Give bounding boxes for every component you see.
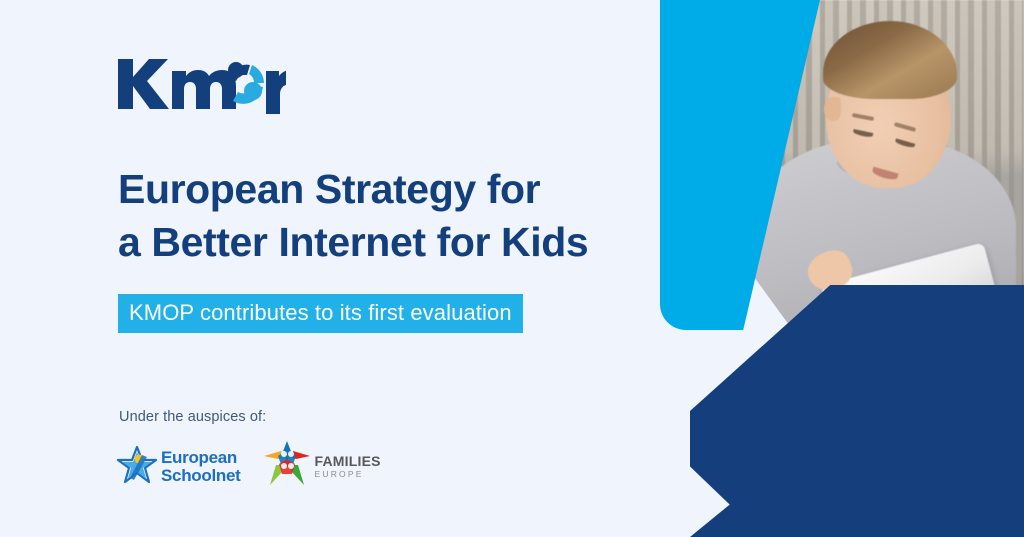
boy-hair — [823, 21, 957, 99]
partner-european-schoolnet[interactable]: European Schoolnet — [116, 444, 240, 489]
coface-line-1: FAMILIES — [314, 454, 380, 468]
coface-text: FAMILIES EUROPE — [314, 454, 380, 479]
subtitle-badge: KMOP contributes to its first evaluation — [118, 294, 523, 333]
headline-line-1: European Strategy for — [118, 163, 638, 216]
partner-logos: European Schoolnet — [116, 440, 381, 493]
content-area: European Strategy for a Better Internet … — [0, 0, 660, 537]
coface-line-2: EUROPE — [314, 470, 380, 479]
headline-line-2: a Better Internet for Kids — [118, 216, 638, 269]
subtitle-wrapper: KMOP contributes to its first evaluation — [118, 294, 523, 333]
european-schoolnet-text: European Schoolnet — [161, 449, 240, 484]
boy-ear — [824, 97, 841, 121]
page-title: European Strategy for a Better Internet … — [118, 163, 638, 270]
esn-line-2: Schoolnet — [161, 467, 240, 484]
partner-coface-families-europe[interactable]: FAMILIES EUROPE — [262, 440, 380, 493]
kmop-logo[interactable] — [116, 53, 286, 115]
multicolor-star-icon — [262, 440, 312, 493]
star-icon — [116, 444, 158, 489]
promo-banner: European Strategy for a Better Internet … — [0, 0, 1024, 537]
auspices-label: Under the auspices of: — [119, 409, 266, 425]
esn-line-1: European — [161, 449, 240, 466]
